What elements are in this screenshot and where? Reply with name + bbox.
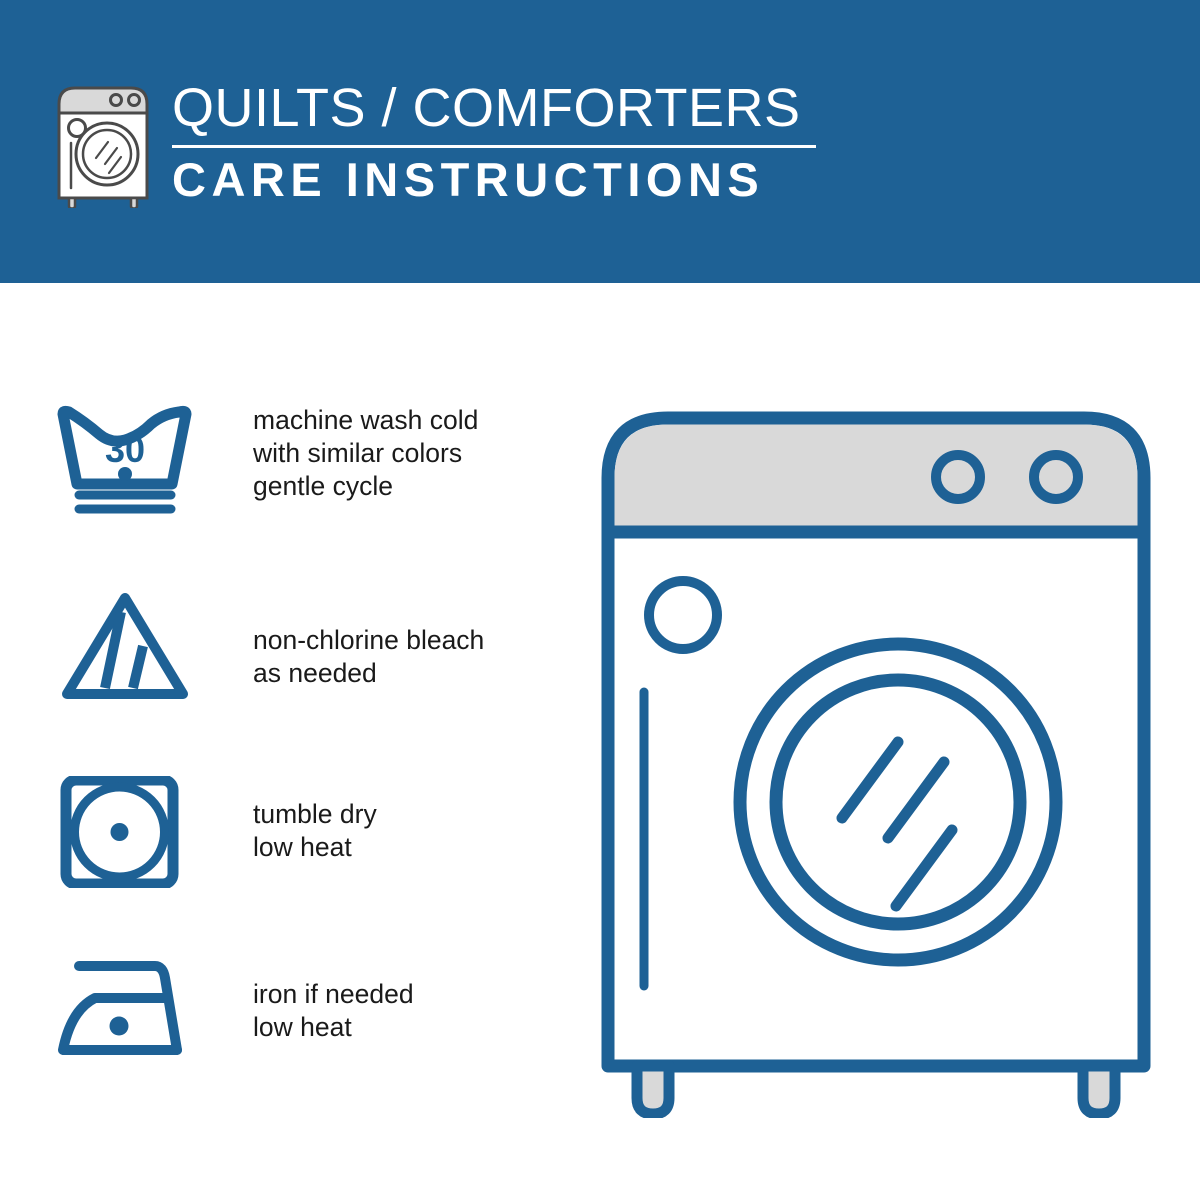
page-header: QUILTS / COMFORTERS CARE INSTRUCTIONS xyxy=(0,0,1200,283)
page-title: QUILTS / COMFORTERS xyxy=(172,80,816,142)
list-item: tumble dry low heat xyxy=(0,776,377,888)
machine-wash-30-gentle-icon: 30 xyxy=(55,404,205,516)
list-item-label: iron if needed low heat xyxy=(253,978,414,1044)
control-panel xyxy=(615,425,1138,529)
title-divider xyxy=(172,145,816,148)
non-chlorine-bleach-icon xyxy=(55,590,205,702)
list-item: 30 machine wash cold with similar colors… xyxy=(0,404,478,516)
machine-leg-right xyxy=(1083,1066,1115,1114)
header-content: QUILTS / COMFORTERS CARE INSTRUCTIONS xyxy=(50,78,816,208)
page-subtitle: CARE INSTRUCTIONS xyxy=(172,154,816,206)
washing-machine-icon xyxy=(50,78,156,208)
machine-leg-left xyxy=(637,1066,669,1114)
wash-temperature-label: 30 xyxy=(105,429,145,470)
tumble-dry-low-heat-icon xyxy=(55,776,205,888)
care-instructions-page: QUILTS / COMFORTERS CARE INSTRUCTIONS 30… xyxy=(0,0,1200,1200)
header-title-block: QUILTS / COMFORTERS CARE INSTRUCTIONS xyxy=(172,80,816,206)
iron-low-heat-icon xyxy=(55,952,205,1064)
list-item: iron if needed low heat xyxy=(0,952,414,1064)
list-item-label: non-chlorine bleach as needed xyxy=(253,624,484,690)
list-item-label: tumble dry low heat xyxy=(253,798,377,864)
list-item-label: machine wash cold with similar colors ge… xyxy=(253,404,478,503)
list-item: non-chlorine bleach as needed xyxy=(0,590,484,702)
front-load-washing-machine-illustration xyxy=(596,406,1156,1118)
